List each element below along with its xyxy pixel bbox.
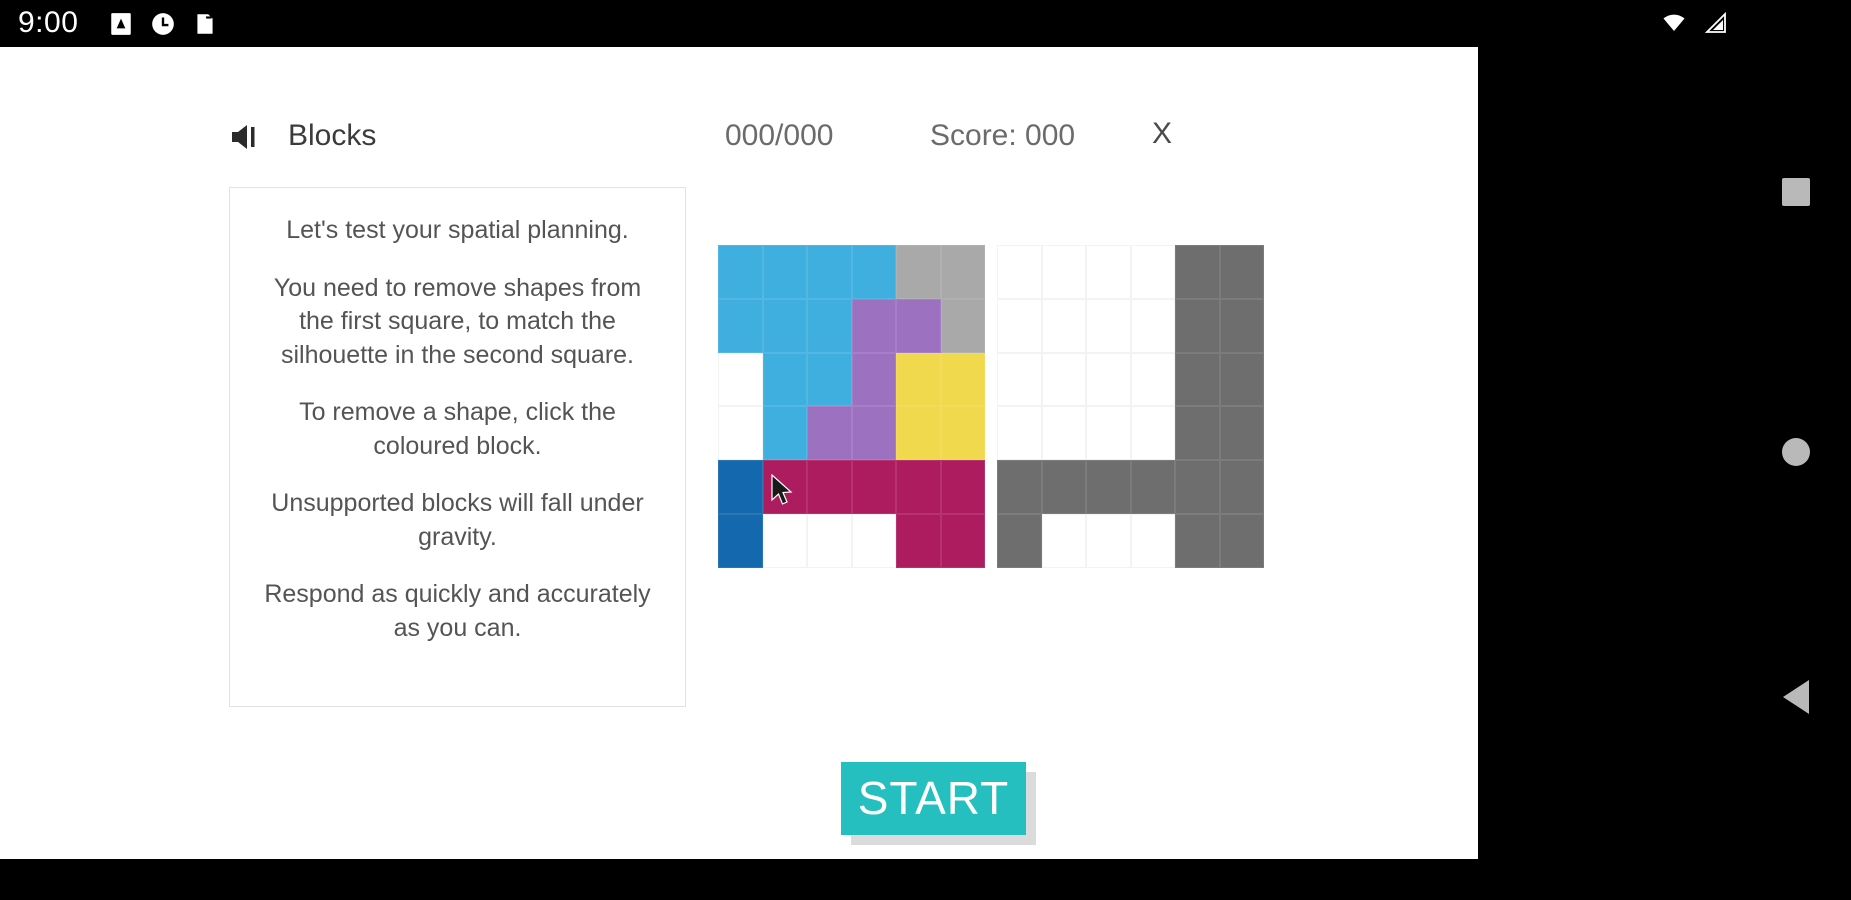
source-cell-r2-c1[interactable] (763, 353, 808, 407)
source-cell-r3-c1[interactable] (763, 406, 808, 460)
target-cell-r2-c1 (1042, 353, 1087, 407)
recents-button[interactable] (1782, 178, 1810, 206)
instructions-panel: Let's test your spatial planning. You ne… (229, 187, 686, 707)
target-cell-r1-c2 (1086, 299, 1131, 353)
source-cell-r1-c4[interactable] (896, 299, 941, 353)
target-cell-r0-c4 (1175, 245, 1220, 299)
target-cell-r1-c3 (1131, 299, 1176, 353)
progress-counter: 000/000 (725, 119, 833, 153)
target-cell-r5-c3 (1131, 514, 1176, 568)
page-title: Blocks (288, 119, 376, 153)
target-cell-r3-c0 (997, 406, 1042, 460)
target-cell-r1-c1 (1042, 299, 1087, 353)
target-cell-r1-c5 (1220, 299, 1265, 353)
target-cell-r4-c3 (1131, 460, 1176, 514)
circle-home-icon (1782, 438, 1810, 466)
target-cell-r5-c0 (997, 514, 1042, 568)
target-cell-r0-c3 (1131, 245, 1176, 299)
target-cell-r5-c2 (1086, 514, 1131, 568)
status-bar-notifications (108, 11, 218, 37)
close-button[interactable]: X (1152, 117, 1172, 151)
source-block-grid[interactable] (718, 245, 985, 568)
source-cell-r1-c2[interactable] (807, 299, 852, 353)
android-screen: 9:00 (0, 0, 1851, 900)
clock-notification-icon (150, 11, 176, 37)
target-cell-r0-c2 (1086, 245, 1131, 299)
target-cell-r3-c5 (1220, 406, 1265, 460)
puzzle-area (718, 245, 1264, 568)
source-cell-r4-c5[interactable] (941, 460, 986, 514)
source-cell-r2-c3[interactable] (852, 353, 897, 407)
source-cell-r1-c1[interactable] (763, 299, 808, 353)
android-navigation-bar (1740, 0, 1851, 900)
square-recents-icon (1782, 178, 1810, 206)
target-cell-r3-c2 (1086, 406, 1131, 460)
target-cell-r0-c5 (1220, 245, 1265, 299)
target-cell-r3-c3 (1131, 406, 1176, 460)
target-cell-r0-c0 (997, 245, 1042, 299)
source-cell-r4-c1[interactable] (763, 460, 808, 514)
source-cell-r5-c4[interactable] (896, 514, 941, 568)
source-cell-r2-c0 (718, 353, 763, 407)
target-cell-r2-c3 (1131, 353, 1176, 407)
source-cell-r3-c5[interactable] (941, 406, 986, 460)
source-cell-r2-c2[interactable] (807, 353, 852, 407)
source-cell-r1-c3[interactable] (852, 299, 897, 353)
source-cell-r0-c2[interactable] (807, 245, 852, 299)
target-cell-r3-c1 (1042, 406, 1087, 460)
source-cell-r0-c0[interactable] (718, 245, 763, 299)
triangle-back-icon (1783, 680, 1809, 714)
app-window: Blocks 000/000 Score: 000 X Let's test y… (0, 47, 1478, 859)
status-bar-clock: 9:00 (18, 6, 78, 40)
target-cell-r2-c0 (997, 353, 1042, 407)
source-cell-r4-c0[interactable] (718, 460, 763, 514)
target-cell-r1-c0 (997, 299, 1042, 353)
source-cell-r1-c5[interactable] (941, 299, 986, 353)
target-cell-r4-c5 (1220, 460, 1265, 514)
cellular-signal-icon (1702, 11, 1730, 40)
back-button[interactable] (1783, 680, 1809, 714)
target-cell-r4-c2 (1086, 460, 1131, 514)
source-cell-r3-c0 (718, 406, 763, 460)
source-cell-r0-c1[interactable] (763, 245, 808, 299)
file-notification-icon (192, 11, 218, 37)
source-cell-r4-c4[interactable] (896, 460, 941, 514)
instruction-paragraph: You need to remove shapes from the first… (256, 272, 659, 373)
instruction-paragraph: Respond as quickly and accurately as you… (256, 578, 659, 645)
source-cell-r3-c4[interactable] (896, 406, 941, 460)
target-cell-r2-c2 (1086, 353, 1131, 407)
instruction-paragraph: Unsupported blocks will fall under gravi… (256, 487, 659, 554)
target-cell-r4-c1 (1042, 460, 1087, 514)
home-button[interactable] (1782, 438, 1810, 466)
source-cell-r1-c0[interactable] (718, 299, 763, 353)
app-header: Blocks 000/000 Score: 000 X (0, 47, 1478, 142)
status-bar: 9:00 (0, 0, 1851, 47)
source-cell-r2-c4[interactable] (896, 353, 941, 407)
screen-bottom-letterbox (0, 859, 1851, 900)
score-label: Score: 000 (930, 119, 1075, 153)
source-cell-r4-c3[interactable] (852, 460, 897, 514)
source-cell-r0-c3[interactable] (852, 245, 897, 299)
source-cell-r5-c3 (852, 514, 897, 568)
wifi-icon (1659, 11, 1689, 40)
target-silhouette-grid (997, 245, 1264, 568)
target-cell-r4-c0 (997, 460, 1042, 514)
start-button[interactable]: START (841, 762, 1026, 835)
source-cell-r3-c3[interactable] (852, 406, 897, 460)
target-cell-r3-c4 (1175, 406, 1220, 460)
target-cell-r5-c4 (1175, 514, 1220, 568)
source-cell-r2-c5[interactable] (941, 353, 986, 407)
source-cell-r4-c2[interactable] (807, 460, 852, 514)
speaker-icon[interactable] (228, 122, 264, 157)
source-cell-r5-c5[interactable] (941, 514, 986, 568)
source-cell-r5-c0[interactable] (718, 514, 763, 568)
target-cell-r5-c5 (1220, 514, 1265, 568)
target-cell-r4-c4 (1175, 460, 1220, 514)
source-cell-r0-c5[interactable] (941, 245, 986, 299)
instruction-paragraph: Let's test your spatial planning. (256, 214, 659, 248)
source-cell-r5-c2 (807, 514, 852, 568)
source-cell-r5-c1 (763, 514, 808, 568)
target-cell-r5-c1 (1042, 514, 1087, 568)
source-cell-r0-c4[interactable] (896, 245, 941, 299)
target-cell-r1-c4 (1175, 299, 1220, 353)
app-notification-icon (108, 11, 134, 37)
instruction-paragraph: To remove a shape, click the coloured bl… (256, 396, 659, 463)
screen-letterbox (1478, 47, 1740, 859)
source-cell-r3-c2[interactable] (807, 406, 852, 460)
target-cell-r0-c1 (1042, 245, 1087, 299)
target-cell-r2-c5 (1220, 353, 1265, 407)
target-cell-r2-c4 (1175, 353, 1220, 407)
